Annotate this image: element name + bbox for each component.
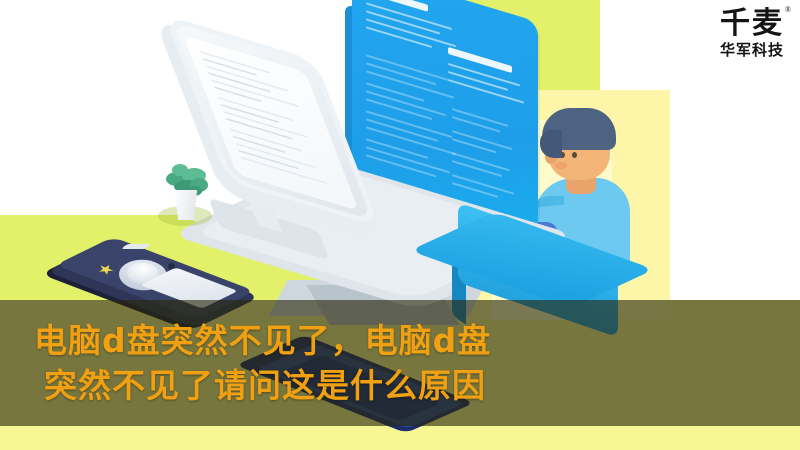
logo-brand-text: 千麦 [720,7,784,40]
plant-leaf [172,164,188,176]
brand-logo: 千麦 ® 华军科技 [720,8,784,60]
logo-brand-name: 千麦 ® [720,8,784,40]
person-hair-side [540,130,562,158]
caption-line-2: 突然不见了请问这是什么原因 [34,363,766,408]
caption-block: 电脑d盘突然不见了，电脑d盘 突然不见了请问这是什么原因 [0,300,800,426]
logo-subtitle: 华军科技 [720,42,784,60]
caption-line-1: 电脑d盘突然不见了，电脑d盘 [34,318,766,363]
person-cheek [555,162,567,169]
person-eye-right [572,152,577,158]
registered-trademark-icon: ® [785,6,793,14]
cover-image: ★ 千麦 ® 华军科技 电脑d盘突然不见了，电脑d盘 突然不见了请问这是什么原因 [0,0,800,450]
